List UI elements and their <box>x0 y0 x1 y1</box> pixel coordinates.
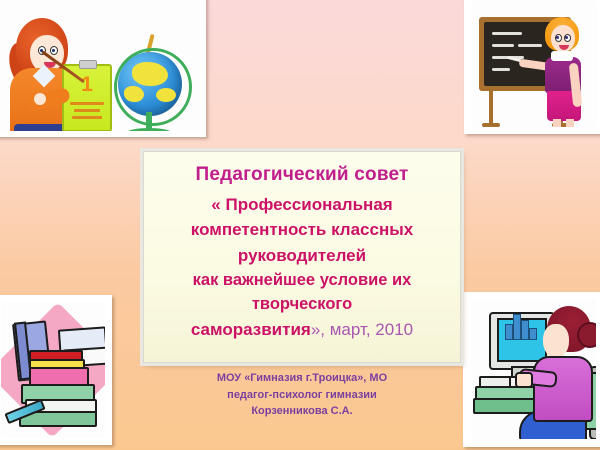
chalk-writing <box>518 44 542 47</box>
credits-line-1: МОУ «Гимназия г.Троицка», МО <box>143 370 461 387</box>
page-title: Педагогический совет <box>152 164 452 186</box>
woman-blouse <box>533 356 593 422</box>
poster-number: 1 <box>64 74 110 95</box>
teacher-leg <box>566 119 574 127</box>
image-teacher-at-blackboard <box>464 0 600 134</box>
chalk-writing <box>492 32 522 35</box>
screen-chart-bar <box>513 314 521 340</box>
poster-clip <box>79 60 97 69</box>
title-line-1: « Профессиональная <box>152 195 452 215</box>
blackboard-foot <box>482 123 500 127</box>
globe-base <box>126 128 172 131</box>
poster-text-line <box>74 109 100 112</box>
poster-text-line <box>72 116 102 119</box>
poster-text-line <box>70 102 104 105</box>
title-panel: Педагогический совет « Профессиональная … <box>143 151 461 363</box>
title-line-6-date: », март, 2010 <box>311 320 413 339</box>
teacher-hand <box>34 93 46 105</box>
image-stack-of-books <box>0 295 112 445</box>
woman-face <box>543 324 569 358</box>
title-line-6-strong: саморазвития <box>191 320 311 339</box>
title-line-2: компетентность классных <box>152 220 452 240</box>
chalk-writing <box>492 68 510 71</box>
presentation-slide: 1 <box>0 0 600 450</box>
credits-line-2: педагог-психолог гимназии <box>143 387 461 404</box>
teacher-leg <box>553 119 561 127</box>
teacher-collar <box>551 51 573 61</box>
title-line-4: как важнейшее условие их <box>152 271 452 290</box>
image-woman-at-computer <box>463 292 600 447</box>
credits-line-3: Корзенникова С.А. <box>143 403 461 420</box>
blackboard-leg <box>489 89 493 125</box>
credits-block: МОУ «Гимназия г.Троицка», МО педагог-пси… <box>143 370 461 420</box>
chalk-writing <box>492 44 514 47</box>
globe-ring <box>114 48 192 126</box>
teacher-pupil-left <box>556 36 559 39</box>
screen-chart-bar <box>529 328 537 340</box>
woman-hand <box>515 372 533 388</box>
title-line-5: творческого <box>152 295 452 314</box>
teacher-pupil-right <box>565 36 568 39</box>
woman-hair-bun <box>577 322 596 348</box>
teacher-pupil-right <box>52 49 55 52</box>
title-line-3: руководителей <box>152 246 452 266</box>
computer-screen <box>497 318 547 362</box>
image-teacher-with-pointer-and-globe: 1 <box>0 0 206 137</box>
screen-chart-bar <box>505 324 513 340</box>
title-line-6: саморазвития», март, 2010 <box>152 320 452 340</box>
screen-chart-bar <box>521 320 529 340</box>
